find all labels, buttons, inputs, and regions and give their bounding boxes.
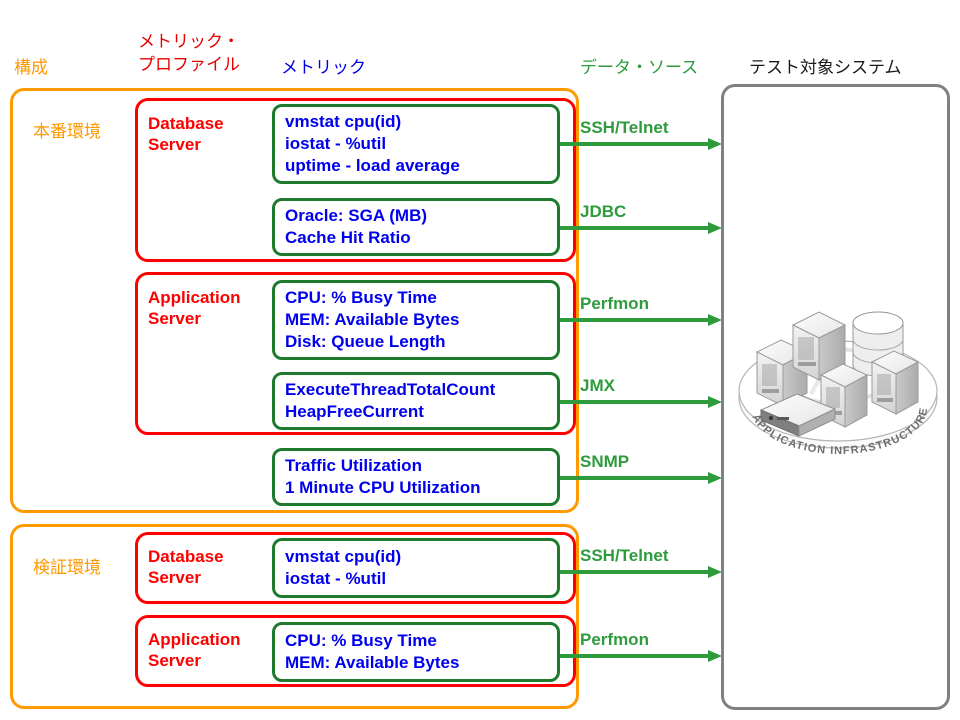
environment-label-verification: 検証環境 — [33, 553, 101, 578]
metric-box-7: CPU: % Busy Time MEM: Available Bytes — [272, 622, 560, 682]
data-source-arrow-7 — [560, 650, 722, 662]
data-source-label-perfmon-2: Perfmon — [580, 630, 649, 650]
column-header-system-under-test: テスト対象システム — [749, 57, 902, 80]
metric-text-4: ExecuteThreadTotalCount HeapFreeCurrent — [285, 379, 495, 423]
data-source-label-ssh-telnet-1: SSH/Telnet — [580, 118, 668, 138]
data-source-arrow-6 — [560, 566, 722, 578]
profile-label-production-database-server: Database Server — [148, 113, 224, 156]
metric-text-5: Traffic Utilization 1 Minute CPU Utiliza… — [285, 455, 481, 499]
profile-label-production-application-server: Application Server — [148, 287, 241, 330]
data-source-label-perfmon-1: Perfmon — [580, 294, 649, 314]
metric-text-6: vmstat cpu(id) iostat - %util — [285, 546, 401, 590]
data-source-label-jmx: JMX — [580, 376, 615, 396]
metric-box-4: ExecuteThreadTotalCount HeapFreeCurrent — [272, 372, 560, 430]
data-source-label-jdbc: JDBC — [580, 202, 626, 222]
metric-text-3: CPU: % Busy Time MEM: Available Bytes Di… — [285, 287, 459, 352]
metric-text-7: CPU: % Busy Time MEM: Available Bytes — [285, 630, 459, 674]
data-source-arrow-3 — [560, 314, 722, 326]
diagram-canvas: 構成 メトリック・ プロファイル メトリック データ・ソース テスト対象システム… — [0, 0, 960, 720]
data-source-arrow-5 — [560, 472, 722, 484]
data-source-arrow-1 — [560, 138, 722, 150]
environment-label-production: 本番環境 — [33, 117, 101, 142]
data-source-label-snmp: SNMP — [580, 452, 629, 472]
data-source-arrow-2 — [560, 222, 722, 234]
profile-label-verification-database-server: Database Server — [148, 546, 224, 589]
metric-box-6: vmstat cpu(id) iostat - %util — [272, 538, 560, 598]
metric-box-5: Traffic Utilization 1 Minute CPU Utiliza… — [272, 448, 560, 506]
profile-label-verification-application-server: Application Server — [148, 629, 241, 672]
application-infrastructure-illustration: APPLICATION INFRASTRUCTURE UNDER TEST — [731, 290, 946, 455]
metric-text-2: Oracle: SGA (MB) Cache Hit Ratio — [285, 205, 427, 249]
column-header-configuration: 構成 — [14, 57, 48, 80]
data-source-label-ssh-telnet-2: SSH/Telnet — [580, 546, 668, 566]
metric-box-3: CPU: % Busy Time MEM: Available Bytes Di… — [272, 280, 560, 360]
metric-text-1: vmstat cpu(id) iostat - %util uptime - l… — [285, 111, 460, 176]
data-source-arrow-4 — [560, 396, 722, 408]
column-header-metric: メトリック — [281, 57, 366, 80]
column-header-metric-profile: メトリック・ プロファイル — [138, 31, 240, 77]
column-header-data-source: データ・ソース — [580, 57, 698, 80]
metric-box-1: vmstat cpu(id) iostat - %util uptime - l… — [272, 104, 560, 184]
metric-box-2: Oracle: SGA (MB) Cache Hit Ratio — [272, 198, 560, 256]
